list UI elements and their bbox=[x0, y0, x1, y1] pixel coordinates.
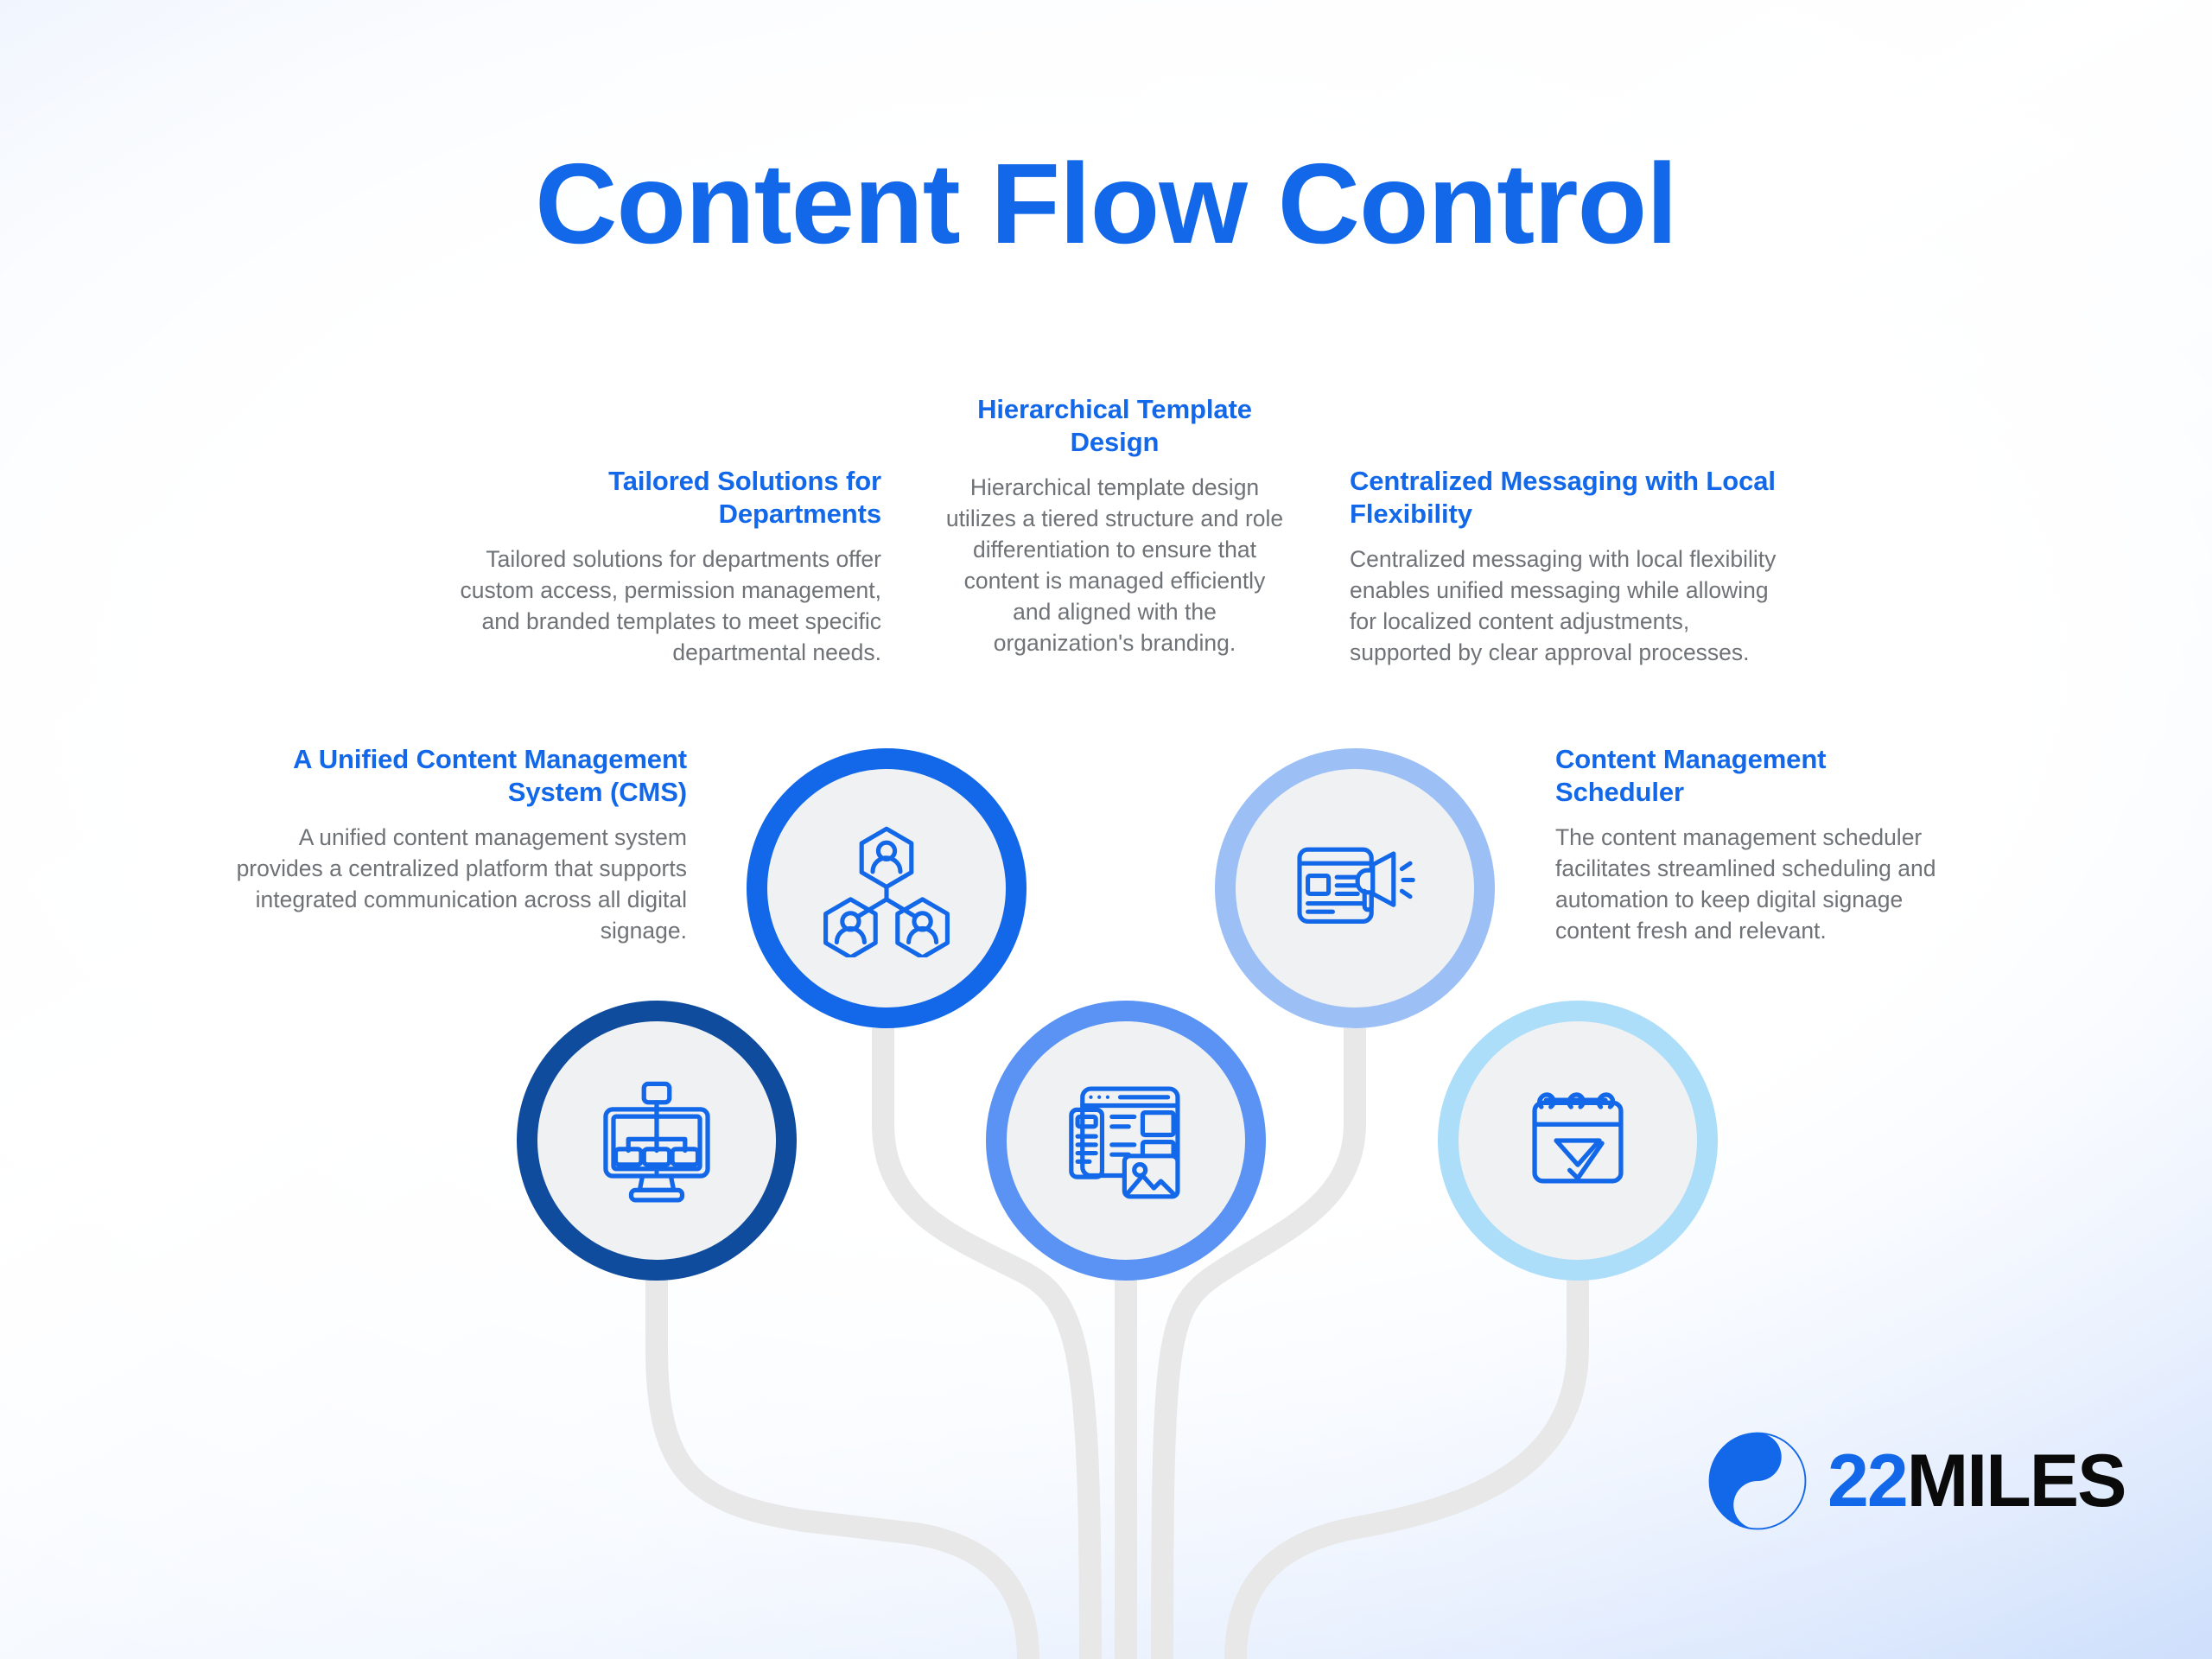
body-messaging: Centralized messaging with local flexibi… bbox=[1350, 543, 1782, 668]
node-circle-scheduler[interactable] bbox=[1438, 1001, 1718, 1281]
body-scheduler: The content management scheduler facilit… bbox=[1555, 822, 1944, 946]
text-block-scheduler: Content Management Scheduler The content… bbox=[1555, 743, 1944, 946]
logo-wordmark: 22MILES bbox=[1827, 1444, 2125, 1518]
heading-departments: Tailored Solutions for Departments bbox=[441, 465, 881, 531]
brand-logo: 22MILES bbox=[1707, 1430, 2125, 1532]
megaphone-announcement-icon bbox=[1286, 819, 1424, 957]
node-circle-cms[interactable] bbox=[517, 1001, 797, 1281]
logo-text-miles: MILES bbox=[1907, 1440, 2126, 1522]
22miles-swirl-logo-icon bbox=[1707, 1430, 1808, 1532]
text-block-departments: Tailored Solutions for Departments Tailo… bbox=[441, 465, 881, 668]
node-circle-departments[interactable] bbox=[747, 748, 1027, 1028]
text-block-messaging: Centralized Messaging with Local Flexibi… bbox=[1350, 465, 1782, 668]
calendar-check-icon bbox=[1510, 1073, 1645, 1208]
page-title: Content Flow Control bbox=[0, 147, 2212, 261]
body-departments: Tailored solutions for departments offer… bbox=[441, 543, 881, 668]
body-template: Hierarchical template design utilizes a … bbox=[942, 472, 1287, 658]
logo-text-22: 22 bbox=[1827, 1440, 1907, 1522]
infographic-canvas: Content Flow Control A Unified Content M… bbox=[0, 0, 2212, 1659]
heading-messaging: Centralized Messaging with Local Flexibi… bbox=[1350, 465, 1782, 531]
user-network-icon bbox=[817, 819, 956, 957]
monitor-org-chart-icon bbox=[586, 1070, 728, 1211]
heading-cms: A Unified Content Management System (CMS… bbox=[212, 743, 687, 810]
node-circle-messaging[interactable] bbox=[1215, 748, 1495, 1028]
text-block-cms: A Unified Content Management System (CMS… bbox=[212, 743, 687, 946]
browser-template-layout-icon bbox=[1056, 1071, 1196, 1211]
heading-scheduler: Content Management Scheduler bbox=[1555, 743, 1944, 810]
text-block-template: Hierarchical Template Design Hierarchica… bbox=[942, 393, 1287, 658]
body-cms: A unified content management system prov… bbox=[212, 822, 687, 946]
node-circle-template[interactable] bbox=[986, 1001, 1266, 1281]
heading-template: Hierarchical Template Design bbox=[942, 393, 1287, 460]
